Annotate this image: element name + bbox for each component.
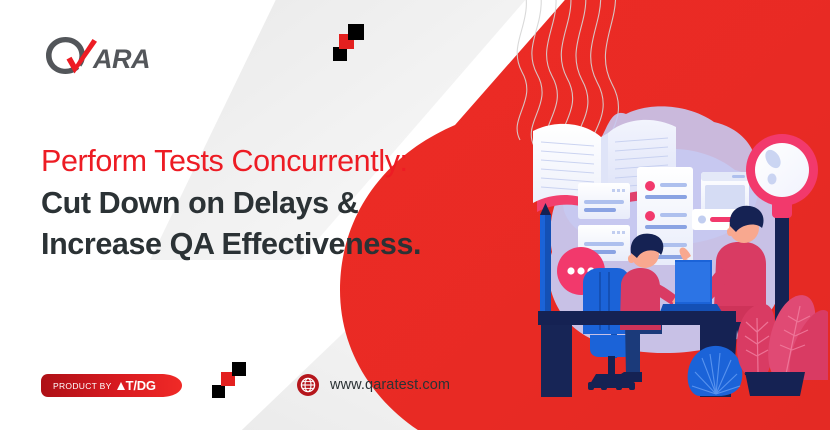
headline-line-3: Increase QA Effectiveness.	[41, 224, 511, 266]
globe-icon	[297, 374, 319, 396]
tdg-brand: T/DG	[117, 378, 156, 393]
svg-text:ARA: ARA	[92, 44, 150, 74]
product-by-badge[interactable]: PRODUCT BY T/DG	[41, 374, 182, 397]
tdg-label: T/DG	[126, 378, 156, 393]
headline: Perform Tests Concurrently: Cut Down on …	[41, 141, 511, 266]
triangle-icon	[117, 382, 125, 390]
website-url: www.qaratest.com	[330, 377, 450, 393]
qara-logo[interactable]: ARA	[41, 33, 161, 77]
qara-logo-icon: ARA	[41, 33, 161, 77]
promotional-banner: ARA Perform Tests Concurrently: Cut Down…	[0, 0, 830, 430]
headline-line-2: Cut Down on Delays &	[41, 183, 511, 225]
website-link[interactable]: www.qaratest.com	[297, 374, 450, 396]
headline-line-1: Perform Tests Concurrently:	[41, 141, 511, 183]
pencil	[540, 203, 551, 325]
cactus-plant	[737, 295, 828, 396]
product-badge-prefix: PRODUCT BY	[53, 381, 112, 391]
